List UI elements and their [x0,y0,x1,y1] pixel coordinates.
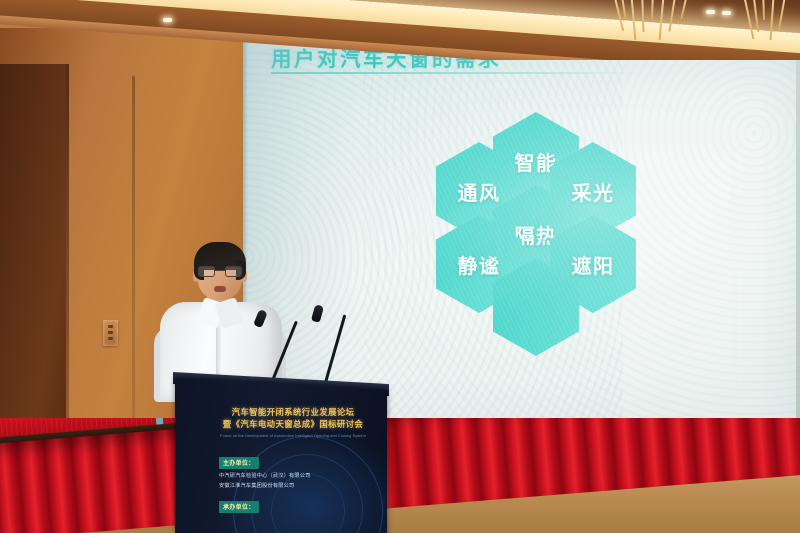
power-outlet-plate[interactable] [103,320,118,346]
ceiling-downlight [722,11,731,15]
host-section: 主办单位： 中汽研汽车检验中心（武汉）有限公司 安徽江淮汽车集团股份有限公司 [219,452,369,490]
conference-photo: 用户对汽车天窗的需求 通风 智能 采光 隔热 静谧 [0,0,800,533]
ceiling-decorations [0,0,800,60]
stage-platform [0,418,800,533]
eyeglasses [198,266,244,277]
host-label: 主办单位： [219,457,259,469]
stage-red-skirt [0,418,800,533]
banner-english-subtitle: Forum on the Development of Automotive I… [209,434,377,438]
wall-seam [132,76,135,476]
organizer-section: 承办单位： [219,496,369,514]
right-wall-edge [796,0,800,460]
mouth [214,286,226,292]
ceiling [0,0,800,60]
host-org: 中汽研汽车检验中心（武汉）有限公司 [219,472,369,480]
ceiling-downlight [706,10,715,14]
banner-title-line2: 暨《汽车电动天窗总成》国标研讨会 [209,418,377,430]
banner-title-line1: 汽车智能开闭系统行业发展论坛 [209,406,377,418]
host-org: 安徽江淮汽车集团股份有限公司 [219,482,369,490]
organizer-label: 承办单位： [219,501,259,513]
ceiling-downlight [163,18,172,22]
podium: 汽车智能开闭系统行业发展论坛 暨《汽车电动天窗总成》国标研讨会 Forum on… [175,378,387,533]
